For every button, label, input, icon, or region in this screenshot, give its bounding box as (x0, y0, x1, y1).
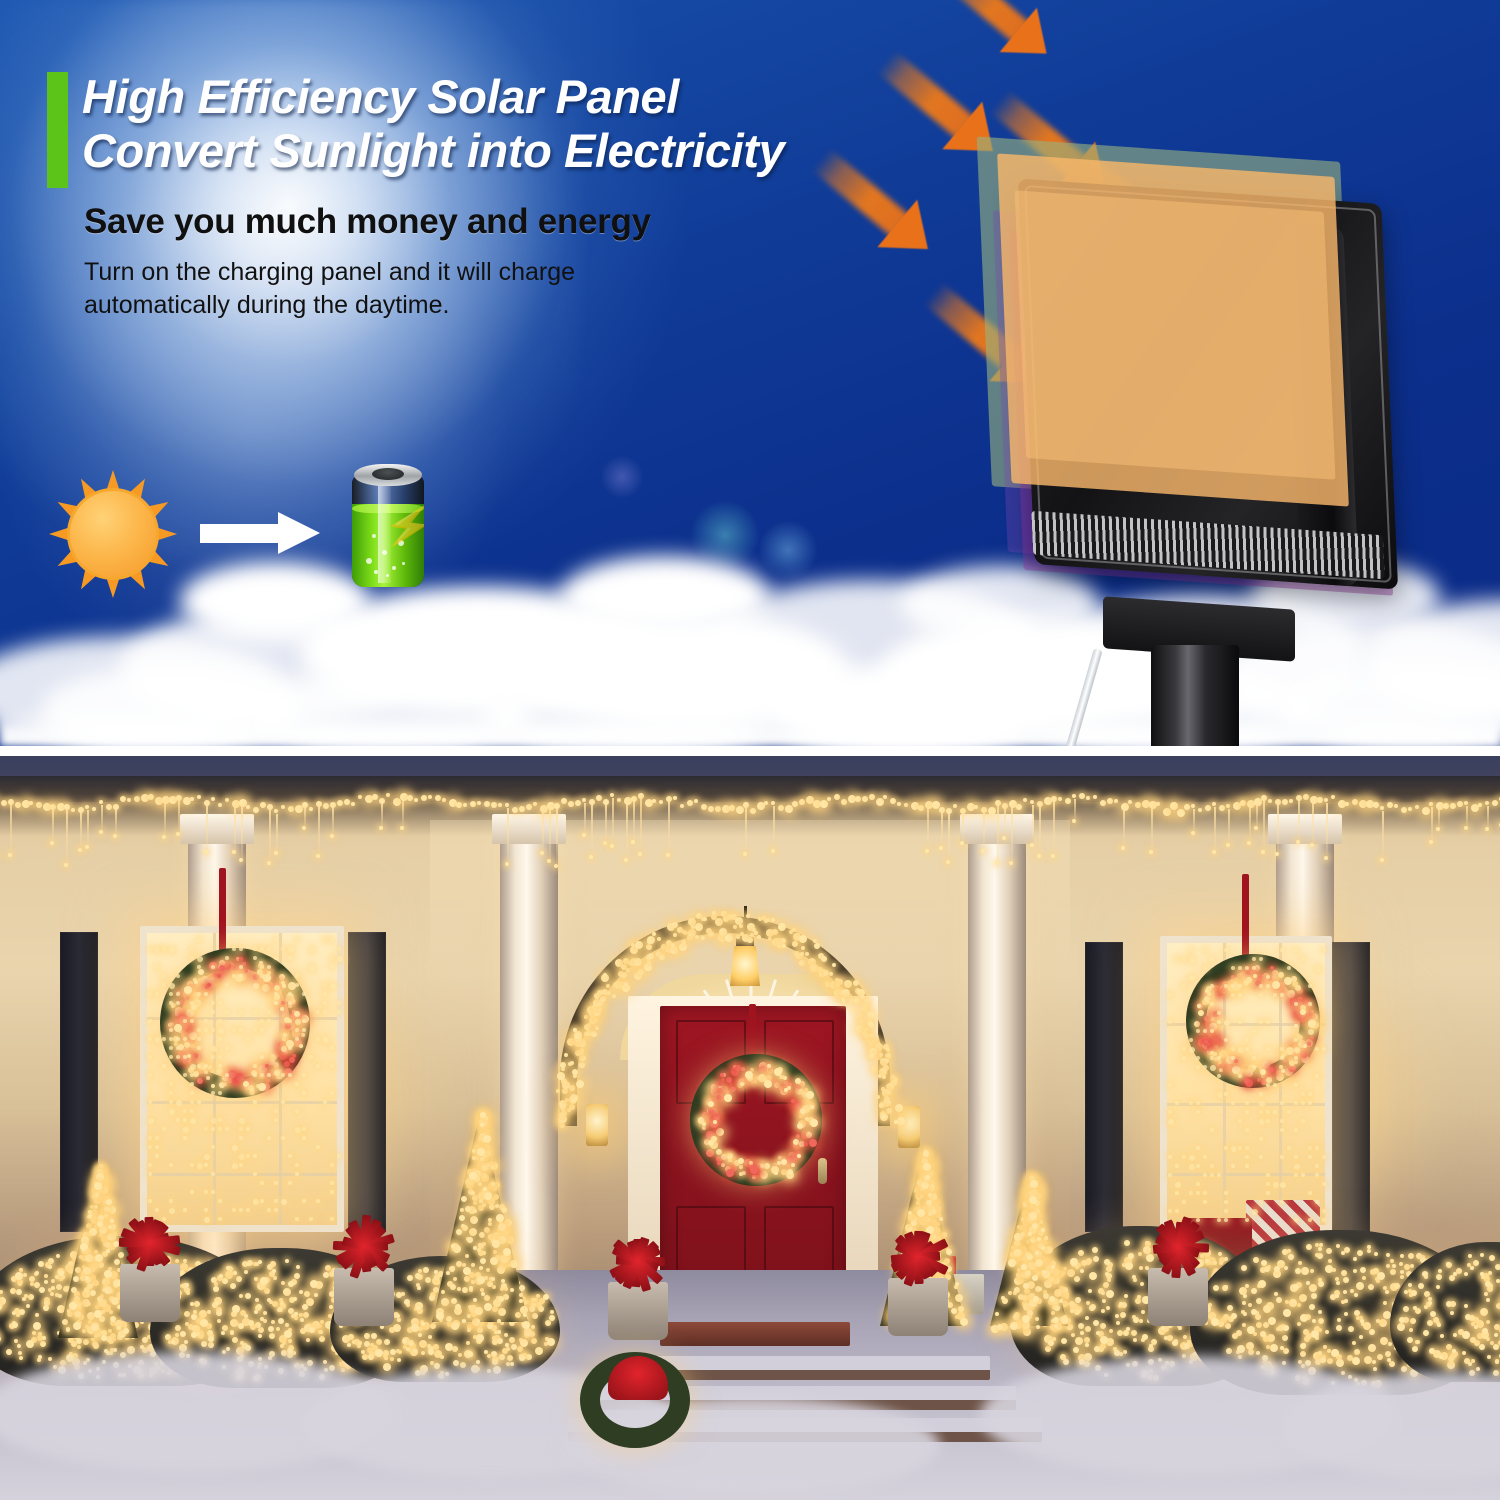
garland-light (894, 1120, 898, 1124)
wreath-light (791, 1099, 795, 1103)
icicle-strand (115, 809, 117, 834)
garland-light (644, 963, 652, 971)
curtain-light (281, 1100, 285, 1104)
icicle-light (204, 850, 208, 854)
curtain-light (274, 992, 278, 996)
icicle-light (127, 798, 131, 802)
bush-light (1408, 1283, 1412, 1287)
curtain-light (197, 1037, 201, 1041)
bush-light (1474, 1325, 1478, 1329)
bush-light (1404, 1290, 1408, 1294)
bush-light (1298, 1261, 1302, 1265)
bubble (372, 534, 376, 538)
bush-light (23, 1273, 27, 1277)
bush-light (171, 1340, 175, 1344)
curtain-light (1238, 993, 1242, 997)
icicle-strand (1466, 806, 1468, 826)
curtain-light (1231, 1056, 1235, 1060)
curtain-light (232, 1163, 238, 1169)
garland-light (569, 1085, 575, 1091)
icicle-strand (668, 801, 670, 853)
bush-light (1387, 1358, 1391, 1362)
curtain-light (218, 1127, 222, 1131)
garland-light (879, 1104, 883, 1108)
curtain-light (1308, 1101, 1312, 1105)
bush-light (1415, 1340, 1419, 1344)
bush-light (258, 1260, 262, 1264)
garland-light (607, 991, 611, 995)
bush-light (1424, 1305, 1428, 1309)
tree-light (951, 1308, 957, 1314)
tree-light (1022, 1315, 1030, 1323)
tree-light (436, 1312, 444, 1320)
icicle-light (8, 853, 12, 857)
curtain-light (155, 965, 159, 969)
wreath-light (1280, 988, 1284, 992)
icicle-light (456, 802, 462, 808)
icicle-strand (80, 812, 82, 848)
tree-light (482, 1203, 486, 1207)
curtain-light (1322, 1209, 1326, 1213)
bush-light (1117, 1330, 1123, 1336)
garland-light (867, 1012, 875, 1020)
curtain-light (239, 947, 243, 951)
tree-light (83, 1267, 91, 1275)
curtain-light (1168, 1110, 1172, 1114)
bush-light (453, 1360, 459, 1366)
curtain-light (1266, 1083, 1270, 1087)
bush-light (1288, 1254, 1294, 1260)
curtain-light (1280, 1101, 1284, 1105)
tree-light (473, 1201, 477, 1205)
wreath-light (174, 1024, 182, 1032)
window-shutter (1332, 942, 1370, 1232)
tree-light (459, 1215, 465, 1221)
poinsettia (600, 1228, 676, 1294)
curtain-light (1266, 1020, 1270, 1024)
curtain-light (1210, 1164, 1214, 1168)
bush-light (222, 1278, 228, 1284)
door-knob[interactable] (818, 1158, 827, 1184)
curtain-light (162, 1037, 166, 1041)
icicle-light (99, 830, 103, 834)
bush-light (1496, 1279, 1500, 1283)
curtain-light (323, 938, 327, 942)
curtain-light (260, 1181, 264, 1185)
curtain-light (1294, 1101, 1298, 1105)
icicle-strand (633, 801, 635, 840)
battery-body: (function(){ const host=document.current… (352, 475, 424, 587)
curtain-light (1252, 1056, 1256, 1060)
bush-light (1085, 1316, 1089, 1320)
bush-light (208, 1342, 214, 1348)
tree-light (484, 1303, 492, 1311)
garland-light (887, 1091, 891, 1095)
bush-light (549, 1315, 555, 1321)
garland-light (671, 943, 675, 947)
curtain-light (295, 974, 299, 978)
wreath-light (795, 1078, 801, 1084)
icicle-strand (276, 814, 278, 851)
icicle-light (939, 846, 943, 850)
bush-light (1297, 1303, 1301, 1307)
tree-light (82, 1329, 86, 1333)
bush-light (35, 1313, 39, 1317)
curtain-light (218, 1055, 222, 1059)
bush-light (179, 1344, 187, 1352)
curtain-light (1259, 984, 1263, 988)
curtain-light (1259, 1020, 1263, 1024)
bush-light (1318, 1281, 1324, 1287)
bush-light (1133, 1338, 1137, 1342)
tree-light (96, 1173, 104, 1181)
tree-light (89, 1228, 97, 1236)
curtain-light (204, 1208, 208, 1212)
bush-light (510, 1362, 514, 1366)
icicle-light (1135, 802, 1141, 808)
curtain-light (218, 1001, 222, 1005)
curtain-light (1210, 1029, 1214, 1033)
bush-light (1074, 1309, 1080, 1315)
icicle-light (1163, 808, 1171, 816)
bush-light (1093, 1256, 1099, 1262)
curtain-light (211, 1172, 215, 1176)
bush-light (1360, 1267, 1366, 1273)
sun-icon: (function(){ const host=document.current… (45, 466, 180, 601)
wreath-light (1286, 1047, 1294, 1055)
bush-light (1103, 1282, 1109, 1288)
bush-light (44, 1301, 48, 1305)
curtain-light (1259, 1110, 1263, 1114)
subheadline: Save you much money and energy (84, 202, 1012, 242)
curtain-light (260, 947, 264, 951)
icicle-light (400, 826, 404, 830)
curtain-light (155, 1145, 159, 1149)
icicle-light (1191, 804, 1195, 808)
garland-light (570, 1061, 574, 1065)
bush-light (1282, 1249, 1288, 1255)
bush-light (1373, 1367, 1377, 1371)
bush-light (1368, 1284, 1374, 1290)
icicle-strand (1277, 804, 1279, 852)
icicle-light (1079, 793, 1085, 799)
icicle-strand (1431, 807, 1433, 840)
curtain-light (1287, 966, 1291, 970)
garland-light (746, 914, 750, 918)
icicle-light (1, 800, 7, 806)
bush-light (506, 1347, 510, 1351)
bush-light (429, 1295, 435, 1301)
curtain-light (1315, 1047, 1319, 1051)
tree-light (73, 1322, 81, 1330)
curtain-light (1203, 1065, 1207, 1069)
bush-light (1319, 1319, 1323, 1323)
bush-light (396, 1292, 402, 1298)
curtain-light (197, 1064, 201, 1068)
wreath-light (1219, 1068, 1223, 1072)
curtain-light (218, 1199, 222, 1203)
bush-light (1403, 1306, 1409, 1312)
tree-light (500, 1255, 508, 1263)
curtain-light (309, 947, 315, 953)
bush-light (535, 1347, 543, 1355)
curtain-light (1189, 975, 1195, 981)
curtain-light (176, 974, 180, 978)
bush-light (1311, 1330, 1319, 1338)
curtain-light (1203, 1173, 1207, 1177)
garland-light (580, 1055, 586, 1061)
panel-cable (1036, 648, 1103, 746)
bush-light (1452, 1349, 1456, 1353)
curtain-light (1217, 1011, 1221, 1015)
curtain-light (1252, 1209, 1258, 1215)
curtain-light (1182, 1056, 1186, 1060)
icicle-light (505, 803, 509, 807)
icicle-light (176, 832, 180, 836)
wreath-light (1260, 1069, 1266, 1075)
curtain-light (302, 1136, 306, 1140)
bush-light (1101, 1309, 1105, 1313)
icicle-strand (304, 807, 306, 827)
garland-light (792, 941, 798, 947)
curtain-light (197, 1028, 201, 1032)
garland-light (579, 1062, 585, 1068)
curtain-light (323, 983, 327, 987)
curtain-light (1259, 1092, 1263, 1096)
icicle-strand (1312, 801, 1314, 843)
curtain-light (1245, 1038, 1249, 1042)
curtain-light (1182, 1047, 1186, 1051)
icicle-light (1303, 794, 1309, 800)
window-shutter (348, 932, 386, 1232)
bush-light (1245, 1284, 1249, 1288)
curtain-light (1266, 1173, 1270, 1177)
garland-light (885, 1059, 889, 1063)
tree-light (82, 1299, 90, 1307)
icicle-light (1030, 843, 1034, 847)
icicle-light (372, 794, 378, 800)
curtain-light (1294, 1173, 1298, 1177)
bush-light (1380, 1337, 1388, 1345)
curtain-light (323, 1100, 327, 1104)
curtain-light (148, 1055, 152, 1059)
arrow-head (278, 512, 320, 554)
wreath-light (168, 1023, 172, 1027)
curtain-light (211, 1010, 215, 1014)
wreath-light (204, 1070, 208, 1074)
bush-light (1305, 1360, 1311, 1366)
curtain-light (197, 965, 201, 969)
icicle-light (820, 800, 828, 808)
curtain-light (239, 1136, 243, 1140)
curtain-light (337, 1010, 341, 1014)
curtain-light (288, 947, 294, 953)
bush-light (1074, 1276, 1080, 1282)
icicle-light (1072, 794, 1076, 798)
icicle-strand (164, 801, 166, 835)
curtain-light (281, 1046, 287, 1052)
bush-light (278, 1307, 282, 1311)
curtain-light (218, 1091, 222, 1095)
curtain-light (1196, 1191, 1200, 1195)
accent-bar (47, 72, 68, 188)
arrow-shaft (200, 524, 282, 543)
bush-light (280, 1344, 284, 1348)
icicle-light (1226, 804, 1230, 808)
tree-light (1025, 1270, 1031, 1276)
garland-light (757, 935, 761, 939)
bush-light (44, 1280, 48, 1284)
wreath-light (1308, 1020, 1316, 1028)
icicle-light (1128, 800, 1132, 804)
garland-light (701, 936, 705, 940)
tree-light (104, 1270, 112, 1278)
icicle-light (1478, 803, 1482, 807)
bush-light (1261, 1260, 1267, 1266)
icicle-light (1289, 799, 1293, 803)
tree-light (441, 1290, 445, 1294)
curtain-light (197, 1046, 201, 1050)
curtain-light (169, 1100, 173, 1104)
bush-light (16, 1289, 22, 1295)
curtain-light (239, 974, 243, 978)
curtain-light (148, 1073, 152, 1077)
curtain-light (1231, 1146, 1237, 1152)
bush-light (1385, 1351, 1391, 1357)
tree-light (501, 1279, 505, 1283)
icicle-light (190, 797, 194, 801)
curtain-light (274, 1109, 278, 1113)
icicle-light (491, 802, 497, 808)
bush-light (1388, 1342, 1392, 1346)
bush-light (1376, 1319, 1380, 1323)
curtain-light (218, 1037, 222, 1041)
bush-light (40, 1341, 46, 1347)
wreath-light (764, 1080, 772, 1088)
bush-light (1462, 1331, 1470, 1339)
curtain-light (169, 1001, 173, 1005)
bush-light (1219, 1261, 1223, 1265)
bush-light (1251, 1288, 1257, 1294)
tree-light (110, 1316, 116, 1322)
curtain-light (1217, 1092, 1223, 1098)
icicle-light (64, 863, 68, 867)
bush-light (1242, 1323, 1246, 1327)
curtain-light (1210, 1065, 1216, 1071)
curtain-light (183, 1073, 187, 1077)
icicle-light (477, 801, 481, 805)
curtain-light (1301, 1092, 1305, 1096)
curtain-light (232, 947, 236, 951)
curtain-light (281, 1073, 285, 1077)
curtain-light (211, 1028, 215, 1032)
bush-light (484, 1350, 488, 1354)
curtain-light (239, 1208, 243, 1212)
curtain-light (330, 1091, 334, 1095)
wreath-light (781, 1159, 787, 1165)
icicle-strand (178, 800, 180, 832)
bush-light (384, 1339, 390, 1345)
curtain-light (295, 983, 299, 987)
curtain-light (190, 1100, 194, 1104)
garland-light (771, 918, 775, 922)
curtain-light (1322, 948, 1326, 952)
tree-light (477, 1148, 485, 1156)
curtain-light (218, 1019, 222, 1023)
lightning-bolt-icon: ⚡ (381, 500, 424, 553)
bush-light (1126, 1327, 1130, 1331)
curtain-light (1196, 1164, 1200, 1168)
curtain-light (316, 1037, 320, 1041)
curtain-light (1301, 1119, 1305, 1123)
curtain-light (190, 1073, 194, 1077)
garland-light (882, 1070, 886, 1074)
icicle-light (1037, 854, 1041, 858)
bush-light (1368, 1344, 1376, 1352)
icicle-light (1177, 809, 1185, 817)
curtain-light (1238, 1047, 1244, 1053)
tree-light (463, 1267, 471, 1275)
bush-light (211, 1277, 217, 1283)
curtain-light (295, 1109, 299, 1113)
curtain-light (197, 1100, 201, 1104)
curtain-light (323, 1037, 329, 1043)
bush-light (1135, 1298, 1141, 1304)
curtain-light (162, 1064, 166, 1068)
icicle-light (995, 861, 999, 865)
curtain-light (183, 1109, 187, 1113)
bush-light (421, 1351, 425, 1355)
tree-light (467, 1314, 471, 1318)
tree-light (1008, 1291, 1012, 1295)
curtain-light (211, 965, 215, 969)
curtain-light (1238, 1020, 1242, 1024)
curtain-light (1217, 1020, 1221, 1024)
curtain-light (1238, 1146, 1242, 1150)
curtain-light (1308, 1191, 1312, 1195)
icicle-light (1093, 795, 1097, 799)
icicle-strand (1326, 803, 1328, 855)
curtain-light (1231, 1047, 1235, 1051)
curtain-light (1168, 1020, 1172, 1024)
curtain-light (253, 956, 257, 960)
bush-light (0, 1290, 3, 1294)
curtain-light (267, 1208, 271, 1212)
bush-light (288, 1308, 294, 1314)
icicle-strand (962, 813, 964, 841)
bush-light (1493, 1344, 1499, 1350)
garland-light (703, 917, 707, 921)
bush-light (1137, 1295, 1141, 1299)
garland-light (576, 1080, 584, 1088)
icicle-strand (1123, 808, 1125, 846)
bush-light (1479, 1344, 1485, 1350)
garland-light (626, 968, 630, 972)
icicle-strand (1193, 809, 1195, 832)
poinsettia (880, 1224, 956, 1290)
icicle-light (862, 796, 868, 802)
wreath-light (1205, 989, 1209, 993)
curtain-light (232, 1208, 236, 1212)
tree-light (462, 1319, 466, 1323)
curtain-light (232, 1145, 238, 1151)
icicle-strand (1074, 799, 1076, 819)
tree-light (457, 1287, 461, 1291)
curtain-light (1245, 1218, 1249, 1222)
icicle-light (904, 803, 908, 807)
wreath-light (1253, 974, 1257, 978)
curtain-light (190, 1118, 196, 1124)
